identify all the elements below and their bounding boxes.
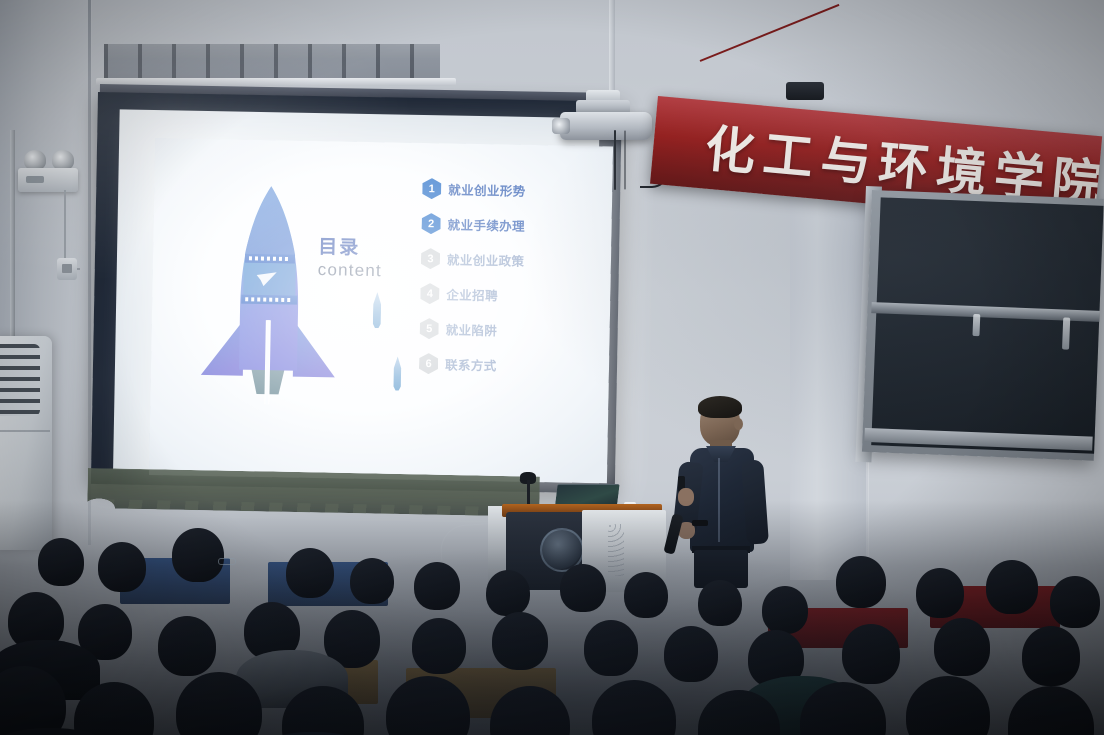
photo-scene: 目录 content 1 就业创业形势 2 就业手续办理 3 就业创业 xyxy=(0,0,1104,735)
projected-slide: 目录 content 1 就业创业形势 2 就业手续办理 3 就业创业 xyxy=(149,138,613,483)
toc-label-4: 企业招聘 xyxy=(446,284,498,304)
presenter-ear xyxy=(734,418,743,430)
wall-ledge xyxy=(104,44,440,81)
chalk-piece-2 xyxy=(1062,317,1070,349)
air-conditioner-grill xyxy=(0,344,40,416)
toc-item-2: 2 就业手续办理 xyxy=(421,206,602,244)
presenter-raised-hand xyxy=(678,488,694,506)
emergency-light-detail xyxy=(26,176,44,183)
presenter-trousers xyxy=(694,550,748,588)
presenter-hair xyxy=(698,396,742,418)
toc-label-2: 就业手续办理 xyxy=(447,214,525,234)
emergency-lamp-left xyxy=(24,150,46,170)
rocket-illustration xyxy=(192,179,346,417)
air-conditioner-seam xyxy=(0,430,50,432)
lectern-emblem xyxy=(540,528,584,572)
toc-item-6: 6 联系方式 xyxy=(419,346,600,384)
mini-rocket-lower xyxy=(391,356,405,390)
mini-rocket-upper xyxy=(370,292,385,328)
emergency-lamp-right xyxy=(52,150,74,170)
projector-cable xyxy=(614,130,616,190)
toc-badge-4: 4 xyxy=(420,283,439,304)
banner-clip xyxy=(786,82,824,100)
presenter xyxy=(672,396,782,586)
toc-badge-5: 5 xyxy=(420,318,439,339)
slide-title-cn: 目录 xyxy=(318,237,418,260)
toc-badge-3: 3 xyxy=(421,248,440,269)
blackboard xyxy=(862,190,1104,461)
toc-badge-6: 6 xyxy=(419,353,438,374)
presenter-right-arm xyxy=(741,459,769,544)
slide-title-block: 目录 content xyxy=(318,237,419,282)
toc-item-3: 3 就业创业政策 xyxy=(421,241,602,279)
toc-item-5: 5 就业陷阱 xyxy=(419,311,600,349)
toc-badge-2: 2 xyxy=(421,213,440,234)
toc-label-1: 就业创业形势 xyxy=(448,179,526,199)
podium-side-cabinet xyxy=(582,510,666,592)
toc-badge-1: 1 xyxy=(422,178,441,199)
wall-pillar xyxy=(790,150,868,580)
screen-surface: 目录 content 1 就业创业形势 2 就业手续办理 3 就业创业 xyxy=(113,109,600,478)
podium-speaker-grill xyxy=(608,524,624,576)
slide-toc-list: 1 就业创业形势 2 就业手续办理 3 就业创业政策 4 企业招聘 xyxy=(419,171,603,384)
projection-screen: 目录 content 1 就业创业形势 2 就业手续办理 3 就业创业 xyxy=(91,92,622,494)
toc-label-3: 就业创业政策 xyxy=(447,249,525,269)
slide-title-en: content xyxy=(318,260,418,282)
toc-label-5: 就业陷阱 xyxy=(446,319,498,339)
presenter-wristwatch xyxy=(692,520,708,526)
chalk-piece-1 xyxy=(972,314,980,336)
toc-item-4: 4 企业招聘 xyxy=(420,276,601,314)
presenter-shirt-placket xyxy=(718,458,720,542)
toc-item-1: 1 就业创业形势 xyxy=(422,171,603,209)
toc-label-6: 联系方式 xyxy=(445,354,497,374)
rocket-svg xyxy=(192,179,346,417)
projector-lens xyxy=(552,118,570,134)
ceiling-projector xyxy=(560,112,652,140)
wall-outlet[interactable] xyxy=(57,258,77,280)
